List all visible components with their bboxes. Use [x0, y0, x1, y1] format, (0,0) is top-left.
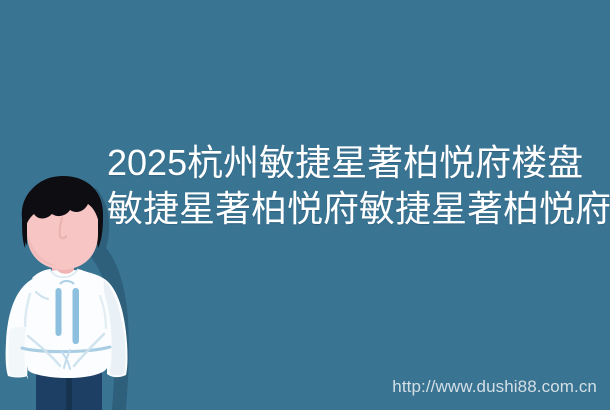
hoodie — [6, 269, 128, 379]
title-line-1: 2025杭州敏捷星著柏悦府楼盘 — [107, 140, 610, 186]
poster-title: 2025杭州敏捷星著柏悦府楼盘 敏捷星著柏悦府敏捷星著柏悦府楼 — [107, 140, 610, 232]
hoodie-drawstring-left — [56, 288, 62, 336]
site-url-watermark: http://www.dushi88.com.cn — [392, 377, 597, 397]
poster-canvas: 2025杭州敏捷星著柏悦府楼盘 敏捷星著柏悦府敏捷星著柏悦府楼 http://w… — [0, 0, 610, 410]
hoodie-drawstring-right — [73, 288, 80, 344]
title-line-2: 敏捷星著柏悦府敏捷星著柏悦府楼 — [107, 186, 610, 232]
